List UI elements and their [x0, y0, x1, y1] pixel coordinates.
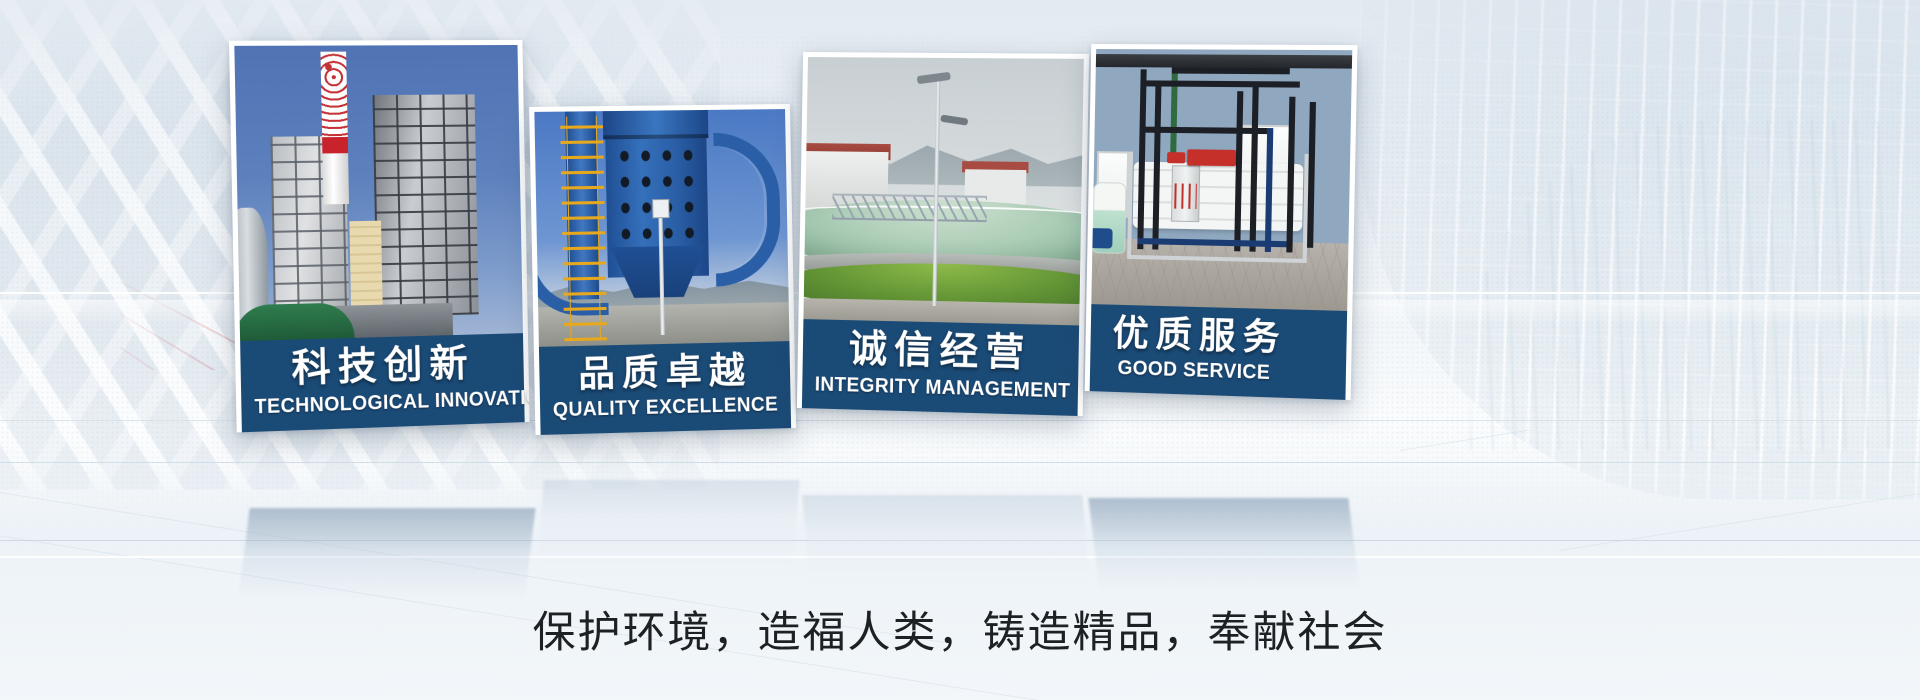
- panel-caption: 诚信经营 INTEGRITY MANAGEMENT: [802, 319, 1079, 416]
- panel-title-en: TECHNOLOGICAL INNOVATION: [254, 389, 511, 418]
- feature-panel-good-service[interactable]: 优质服务 GOOD SERVICE: [1085, 44, 1358, 400]
- panel-title-en: GOOD SERVICE: [1117, 358, 1334, 385]
- panel-caption: 优质服务 GOOD SERVICE: [1090, 304, 1347, 400]
- reverse-osmosis-skid-photo: [1091, 49, 1352, 311]
- feature-panel-technological-innovation[interactable]: 科技创新 TECHNOLOGICAL INNOVATION: [229, 40, 530, 433]
- panel-title-cn: 优质服务: [1112, 315, 1340, 358]
- panel-caption: 科技创新 TECHNOLOGICAL INNOVATION: [240, 333, 525, 432]
- panel-title-cn: 诚信经营: [809, 329, 1073, 374]
- feature-panel-integrity-management[interactable]: 诚信经营 INTEGRITY MANAGEMENT: [797, 52, 1089, 416]
- panel-title-cn: 品质卓越: [545, 351, 784, 393]
- wastewater-clarifier-photo: [803, 57, 1083, 325]
- panel-title-en: INTEGRITY MANAGEMENT: [815, 374, 1066, 401]
- panel-title-cn: 科技创新: [247, 343, 518, 390]
- panel-title-en: QUALITY EXCELLENCE: [552, 394, 779, 420]
- panel-caption: 品质卓越 QUALITY EXCELLENCE: [539, 341, 791, 435]
- desulfurization-plant-photo: [234, 45, 523, 341]
- feature-panel-quality-excellence[interactable]: 品质卓越 QUALITY EXCELLENCE: [529, 104, 796, 435]
- promotional-banner: 科技创新 TECHNOLOGICAL INNOVATION: [0, 0, 1920, 700]
- baghouse-dust-collector-photo: [534, 109, 789, 347]
- feature-panel-strip: 科技创新 TECHNOLOGICAL INNOVATION: [0, 0, 1920, 700]
- banner-tagline: 保护环境，造福人类，铸造精品，奉献社会: [0, 598, 1920, 660]
